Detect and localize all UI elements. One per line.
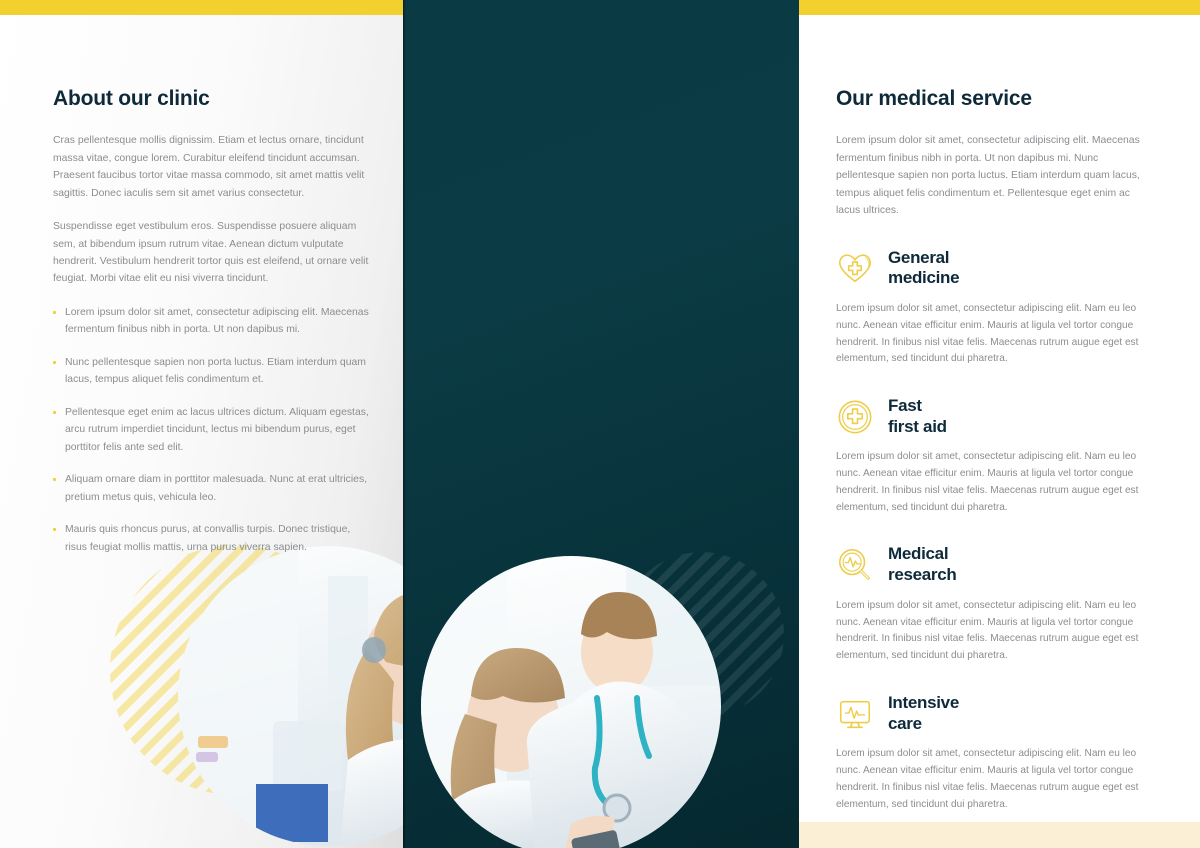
service-text: Lorem ipsum dolor sit amet, consectetur … [836,301,1151,368]
service-title: General medicine [888,248,959,289]
center-doctor-photo [421,556,721,848]
services-intro: Lorem ipsum dolor sit amet, consectetur … [836,132,1151,219]
about-bullet-list: Lorem ipsum dolor sit amet, consectetur … [53,304,371,556]
magnifier-pulse-icon [836,546,874,584]
about-paragraph-2: Suspendisse eget vestibulum eros. Suspen… [53,218,371,288]
service-title: Medical research [888,544,957,585]
service-general-medicine: General medicine Lorem ipsum dolor sit a… [836,248,1151,368]
service-header: General medicine [836,248,1151,289]
list-item: Lorem ipsum dolor sit amet, consectetur … [53,304,371,339]
brochure-page: About our clinic Cras pellentesque molli… [0,0,1200,848]
monitor-pulse-icon [836,695,874,733]
left-panel: About our clinic Cras pellentesque molli… [0,0,403,848]
top-accent-bar-left [0,0,403,15]
left-content: About our clinic Cras pellentesque molli… [53,86,371,571]
about-paragraph-1: Cras pellentesque mollis dignissim. Etia… [53,132,371,202]
list-item: Aliquam ornare diam in porttitor malesua… [53,471,371,506]
service-text: Lorem ipsum dolor sit amet, consectetur … [836,598,1151,665]
right-content: Our medical service Lorem ipsum dolor si… [836,86,1151,813]
clinic-photo-illustration [178,546,403,846]
service-medical-research: Medical research Lorem ipsum dolor sit a… [836,544,1151,664]
list-item: Nunc pellentesque sapien non porta luctu… [53,354,371,389]
first-aid-circle-icon [836,398,874,436]
center-panel: Why choose our clinic? Nam semper erat e… [403,0,799,848]
cream-footer-band [799,822,1200,848]
list-item: Mauris quis rhoncus purus, at convallis … [53,521,371,556]
service-text: Lorem ipsum dolor sit amet, consectetur … [836,449,1151,516]
service-header: Intensive care [836,693,1151,734]
service-fast-first-aid: Fast first aid Lorem ipsum dolor sit ame… [836,396,1151,516]
list-item: Pellentesque eget enim ac lacus ultrices… [53,404,371,456]
doctor-photo-illustration [421,556,721,848]
left-clinic-photo [178,546,403,846]
service-title: Fast first aid [888,396,947,437]
service-header: Medical research [836,544,1151,585]
about-title: About our clinic [53,86,371,111]
services-title: Our medical service [836,86,1151,111]
service-title: Intensive care [888,693,959,734]
heart-cross-icon [836,249,874,287]
service-text: Lorem ipsum dolor sit amet, consectetur … [836,746,1151,813]
service-header: Fast first aid [836,396,1151,437]
top-accent-bar-right [799,0,1200,15]
service-intensive-care: Intensive care Lorem ipsum dolor sit ame… [836,693,1151,813]
